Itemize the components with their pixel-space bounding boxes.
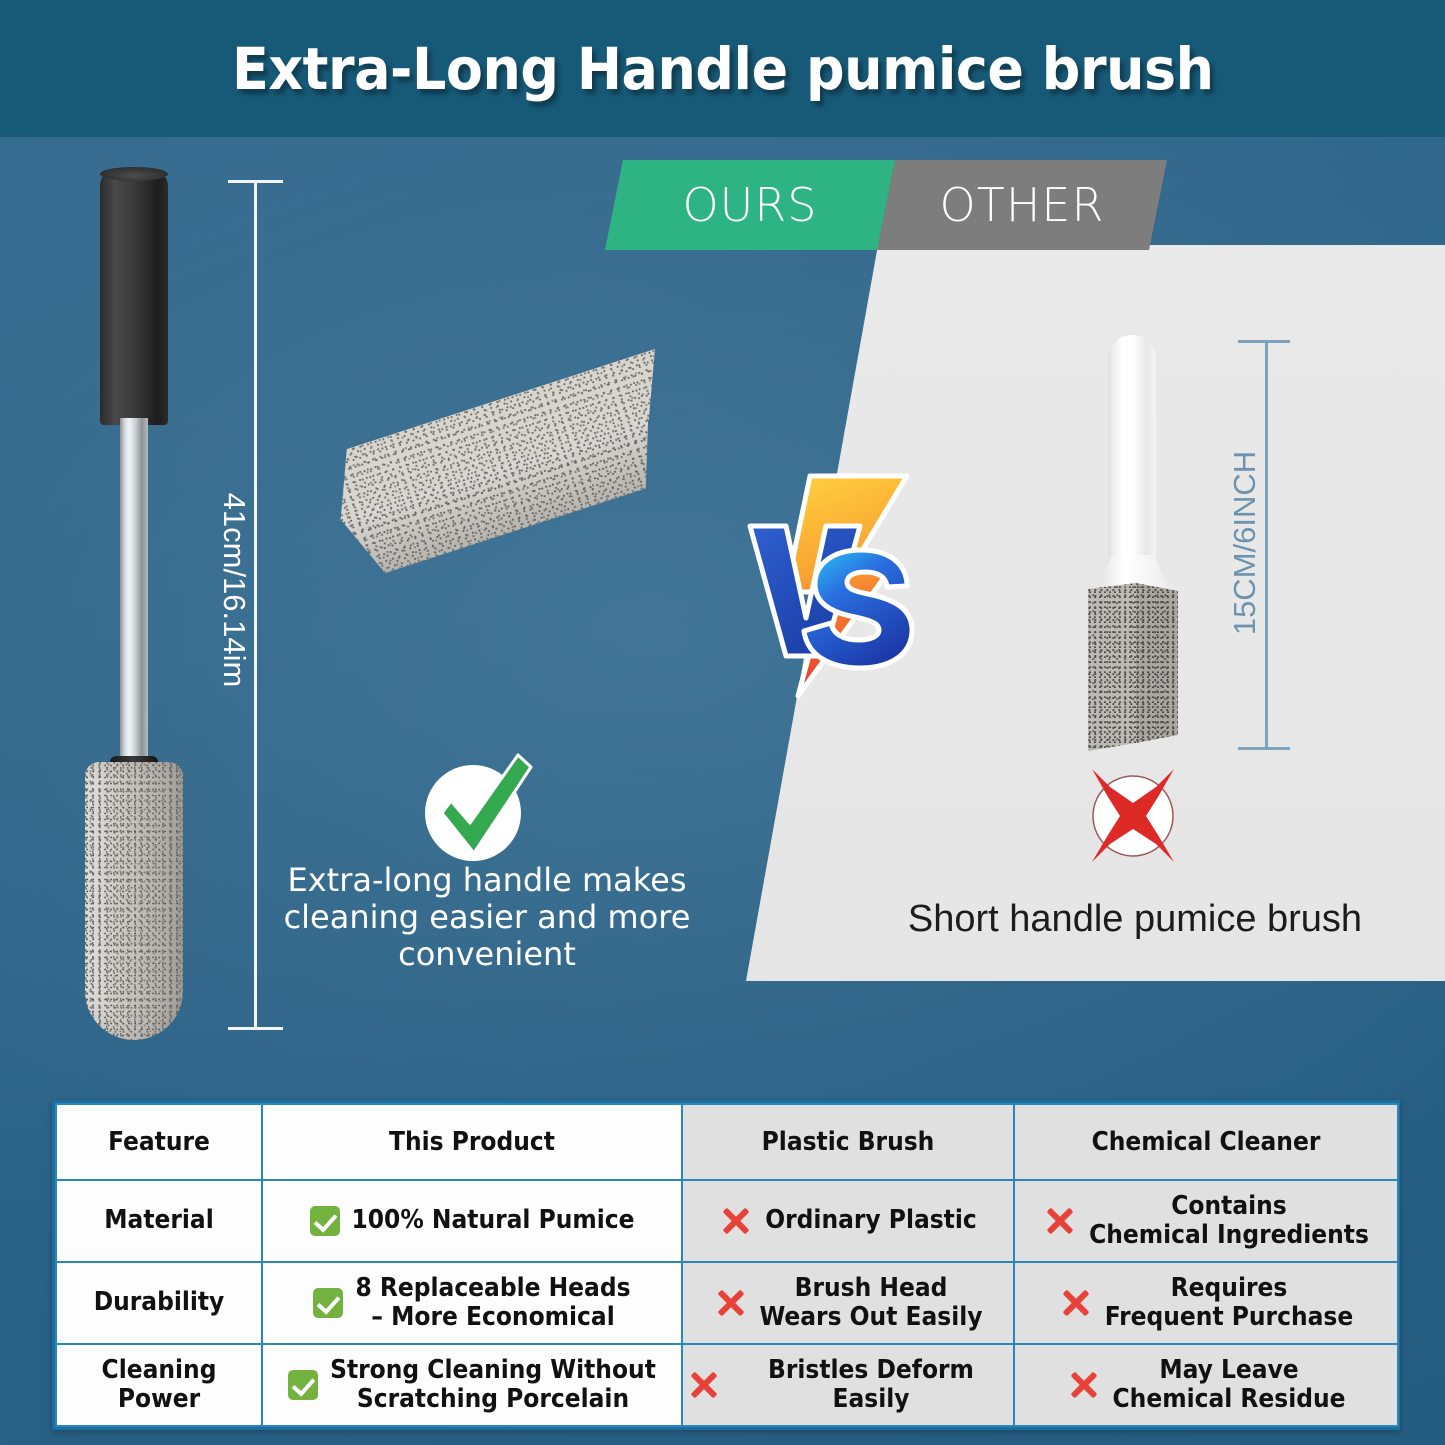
brush-pumice-head <box>85 762 183 1040</box>
green-check-circle-icon <box>418 753 538 865</box>
cell-content: Durability <box>61 1288 257 1317</box>
cell-text: ContainsChemical Ingredients <box>1089 1192 1369 1250</box>
plastic-brush-cell: Ordinary Plastic <box>682 1180 1014 1262</box>
chemical-cleaner-cell: RequiresFrequent Purchase <box>1014 1262 1398 1344</box>
comparison-table: FeatureThis ProductPlastic BrushChemical… <box>52 1100 1400 1430</box>
table-row: Cleaning PowerStrong Cleaning WithoutScr… <box>56 1344 1398 1426</box>
cell-content: 100% Natural Pumice <box>267 1206 677 1236</box>
left-caption: Extra-long handle makes cleaning easier … <box>272 862 702 973</box>
this-product-cell: Strong Cleaning WithoutScratching Porcel… <box>262 1344 682 1426</box>
banner-ours-tab: OURS <box>605 160 895 250</box>
table-header-cell: This Product <box>262 1104 682 1180</box>
dimension-cap-bottom <box>1238 747 1290 750</box>
dimension-label-right: 15CM/6INCH <box>1227 433 1263 653</box>
dimension-cap-top <box>1238 340 1290 343</box>
dimension-rule <box>1265 340 1268 750</box>
cell-content: Strong Cleaning WithoutScratching Porcel… <box>267 1356 677 1414</box>
dimension-cap-bottom <box>228 1027 283 1030</box>
table-header-cell: Chemical Cleaner <box>1014 1104 1398 1180</box>
cell-content: May LeaveChemical Residue <box>1019 1356 1393 1414</box>
this-product-cell: 100% Natural Pumice <box>262 1180 682 1262</box>
table-header-cell: Feature <box>56 1104 262 1180</box>
cell-text: Brush HeadWears Out Easily <box>760 1274 983 1332</box>
header-bar: Extra-Long Handle pumice brush <box>0 0 1445 137</box>
comparison-banner: OURS OTHER <box>605 160 1165 250</box>
page-title: Extra-Long Handle pumice brush <box>232 35 1214 103</box>
dimension-line-left: 41cm/16.14im <box>206 172 266 1038</box>
check-icon <box>310 1206 340 1236</box>
cell-text: Strong Cleaning WithoutScratching Porcel… <box>330 1356 656 1414</box>
banner-other-label: OTHER <box>940 178 1105 232</box>
short-brush-plastic-handle <box>1108 335 1156 583</box>
plastic-brush-cell: Brush HeadWears Out Easily <box>682 1262 1014 1344</box>
cell-text: Material <box>104 1206 213 1235</box>
cell-text: Durability <box>94 1288 225 1317</box>
short-brush-pumice-block-left <box>1088 583 1136 751</box>
cell-text: Chemical Cleaner <box>1092 1127 1321 1157</box>
cell-text: Cleaning Power <box>61 1356 257 1414</box>
cell-text: Bristles Deform Easily <box>733 1356 1009 1414</box>
table-row: Durability8 Replaceable Heads– More Econ… <box>56 1262 1398 1344</box>
this-product-cell: 8 Replaceable Heads– More Economical <box>262 1262 682 1344</box>
feature-cell: Material <box>56 1180 262 1262</box>
cell-content: Cleaning Power <box>61 1356 257 1414</box>
banner-ours-label: OURS <box>682 178 817 232</box>
cross-icon <box>719 1204 753 1238</box>
cross-icon <box>1059 1286 1093 1320</box>
versus-logo <box>742 468 932 703</box>
cell-content: RequiresFrequent Purchase <box>1019 1274 1393 1332</box>
cell-content: Bristles Deform Easily <box>687 1356 1009 1414</box>
cell-text: RequiresFrequent Purchase <box>1105 1274 1353 1332</box>
dimension-line-right: 15CM/6INCH <box>1210 335 1280 755</box>
check-icon <box>313 1288 343 1318</box>
banner-other-tab: OTHER <box>877 160 1167 250</box>
cell-text: This Product <box>389 1127 555 1157</box>
cell-content: Brush HeadWears Out Easily <box>687 1274 1009 1332</box>
cross-icon <box>1067 1368 1101 1402</box>
cross-icon <box>687 1368 721 1402</box>
cell-text: Plastic Brush <box>762 1127 935 1157</box>
red-x-circle-icon <box>1078 763 1188 868</box>
cell-content: 8 Replaceable Heads– More Economical <box>267 1274 677 1332</box>
cell-text: 100% Natural Pumice <box>352 1206 635 1235</box>
cell-text: Feature <box>108 1127 210 1157</box>
chemical-cleaner-cell: ContainsChemical Ingredients <box>1014 1180 1398 1262</box>
brush-grip-cap <box>100 167 168 181</box>
long-handle-brush-image <box>80 160 210 1040</box>
dimension-rule <box>254 180 257 1030</box>
plastic-brush-cell: Bristles Deform Easily <box>682 1344 1014 1426</box>
check-icon <box>288 1370 318 1400</box>
feature-cell: Durability <box>56 1262 262 1344</box>
cell-text: Ordinary Plastic <box>765 1206 976 1235</box>
brush-rubber-grip <box>100 170 168 425</box>
table-row: Material100% Natural PumiceOrdinary Plas… <box>56 1180 1398 1262</box>
infographic-page: Extra-Long Handle pumice brush OURS OTHE… <box>0 0 1445 1445</box>
table-header-row: FeatureThis ProductPlastic BrushChemical… <box>56 1104 1398 1180</box>
chemical-cleaner-cell: May LeaveChemical Residue <box>1014 1344 1398 1426</box>
table-header-cell: Plastic Brush <box>682 1104 1014 1180</box>
cell-content: Ordinary Plastic <box>687 1204 1009 1238</box>
cell-text: 8 Replaceable Heads– More Economical <box>355 1274 630 1332</box>
dimension-label-left: 41cm/16.14im <box>216 480 252 700</box>
cross-icon <box>1043 1204 1077 1238</box>
cell-text: May LeaveChemical Residue <box>1113 1356 1346 1414</box>
cell-content: ContainsChemical Ingredients <box>1019 1192 1393 1250</box>
right-caption: Short handle pumice brush <box>830 898 1440 941</box>
brush-steel-shaft <box>120 418 148 763</box>
feature-cell: Cleaning Power <box>56 1344 262 1426</box>
cell-content: Material <box>61 1206 257 1235</box>
short-handle-brush-image <box>1070 335 1200 755</box>
short-brush-pumice-block-right <box>1136 583 1178 746</box>
cross-icon <box>714 1286 748 1320</box>
